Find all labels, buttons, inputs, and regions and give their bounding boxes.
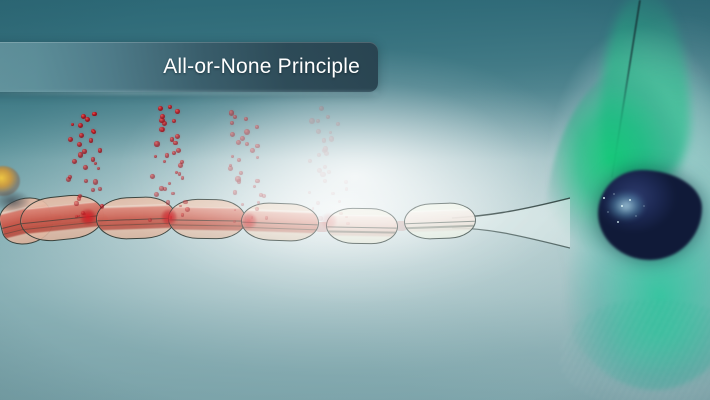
sodium-ion: [92, 130, 97, 135]
sodium-ion: [265, 216, 268, 219]
sodium-ion: [312, 207, 314, 209]
sodium-ion: [180, 160, 185, 165]
sodium-ion: [179, 205, 181, 207]
sodium-ion: [165, 153, 170, 158]
sodium-ion: [185, 207, 190, 212]
sodium-ion: [233, 115, 237, 119]
sodium-ion: [234, 209, 237, 212]
sodium-ion: [316, 201, 320, 205]
sodium-ion: [239, 171, 243, 175]
sodium-ion: [181, 213, 185, 217]
sodium-ion: [163, 160, 166, 163]
sodium-ion: [91, 188, 95, 192]
sodium-ion: [329, 131, 333, 135]
sodium-ion: [256, 156, 259, 159]
sodium-ion: [237, 158, 241, 162]
sodium-ion: [250, 148, 255, 153]
sodium-ion: [319, 106, 324, 111]
sodium-ion: [68, 175, 72, 179]
ion-burst: [318, 210, 340, 232]
sodium-ion: [336, 122, 340, 126]
sodium-ion: [175, 134, 180, 139]
sodium-ion: [345, 187, 349, 191]
sodium-ion: [309, 118, 315, 124]
sodium-ion: [98, 187, 102, 191]
sodium-ion: [181, 176, 184, 179]
sodium-ion: [229, 164, 232, 167]
sodium-ion: [327, 170, 331, 174]
sodium-ion: [259, 193, 263, 197]
sodium-ion: [326, 115, 330, 119]
sodium-ion: [77, 142, 83, 148]
sodium-ion: [171, 192, 174, 195]
sodium-ion: [317, 153, 321, 157]
ion-plume: [142, 100, 190, 220]
sodium-ion: [91, 157, 96, 162]
sodium-ion: [74, 201, 78, 205]
sodium-ion: [244, 117, 248, 121]
sodium-ion: [233, 220, 236, 223]
sodium-ion: [82, 149, 87, 154]
sodium-ion: [316, 119, 320, 123]
sodium-ion: [168, 105, 172, 109]
sodium-ion: [158, 106, 163, 111]
sodium-ion: [97, 167, 100, 170]
sodium-ion: [175, 109, 180, 114]
sodium-ion: [338, 200, 341, 203]
title-banner: All-or-None Principle: [0, 42, 378, 92]
sodium-ion: [308, 191, 311, 194]
sodium-ion: [322, 138, 326, 142]
sodium-ion: [72, 159, 77, 164]
animation-frame: All-or-None Principle: [0, 0, 710, 400]
sodium-ion: [245, 142, 249, 146]
sodium-ion: [150, 174, 155, 179]
sodium-ion: [92, 112, 96, 116]
sodium-ion: [240, 136, 246, 142]
sodium-ion: [183, 200, 188, 205]
sodium-ion: [316, 129, 321, 134]
sodium-ion: [235, 176, 240, 181]
sodium-ion: [173, 141, 178, 146]
sodium-ion: [176, 148, 181, 153]
sodium-ion: [71, 123, 75, 127]
ion-plume: [302, 104, 348, 224]
sodium-ion: [257, 201, 260, 204]
sodium-ion: [166, 200, 170, 204]
ion-burst: [158, 206, 180, 228]
sodium-ion: [244, 129, 250, 135]
sodium-ion: [230, 121, 235, 126]
sodium-ion: [98, 148, 103, 153]
sodium-ion: [84, 179, 88, 183]
sodium-ion: [178, 172, 182, 176]
sodium-ion: [78, 123, 83, 128]
sodium-ion: [79, 133, 85, 139]
sodium-ion: [154, 141, 160, 147]
sodium-ion: [344, 180, 349, 185]
ion-plume: [62, 108, 106, 220]
sodium-ion: [159, 186, 164, 191]
sodium-ion: [236, 140, 241, 145]
sodium-ion: [93, 179, 98, 184]
sodium-ion: [170, 137, 174, 141]
ion-burst: [238, 210, 260, 232]
sodium-ion: [308, 159, 312, 163]
ion-burst: [77, 206, 99, 228]
sodium-ion: [320, 172, 325, 177]
sodium-ion: [329, 136, 335, 142]
sodium-ion: [89, 138, 94, 143]
sodium-ion: [253, 185, 256, 188]
sodium-ion: [233, 190, 237, 194]
ion-plume: [222, 106, 268, 224]
sodium-ion: [83, 165, 88, 170]
sodium-ion: [323, 179, 328, 184]
sodium-ion: [323, 146, 329, 152]
banner-title-text: All-or-None Principle: [163, 55, 360, 79]
sodium-ion: [241, 203, 244, 206]
sodium-ion: [255, 207, 259, 211]
sodium-ion: [78, 194, 83, 199]
sodium-ion: [81, 114, 86, 119]
sodium-ion: [339, 212, 343, 216]
sodium-ion: [229, 110, 235, 116]
sodium-ion: [172, 119, 176, 123]
sodium-ion: [255, 144, 260, 149]
sodium-ion: [231, 155, 234, 158]
sodium-ion: [154, 155, 157, 158]
sodium-ion: [255, 125, 259, 129]
sodium-ion: [323, 165, 327, 169]
sodium-ion: [331, 192, 335, 196]
sodium-ion: [345, 216, 347, 218]
sodium-ion: [94, 162, 97, 165]
sodium-ion: [346, 222, 349, 225]
sodium-ion: [154, 192, 159, 197]
sodium-ion: [230, 132, 235, 137]
sodium-ion: [255, 179, 260, 184]
sodium-ion: [168, 182, 172, 186]
sodium-ion: [68, 137, 73, 142]
sodium-ion: [148, 218, 152, 222]
